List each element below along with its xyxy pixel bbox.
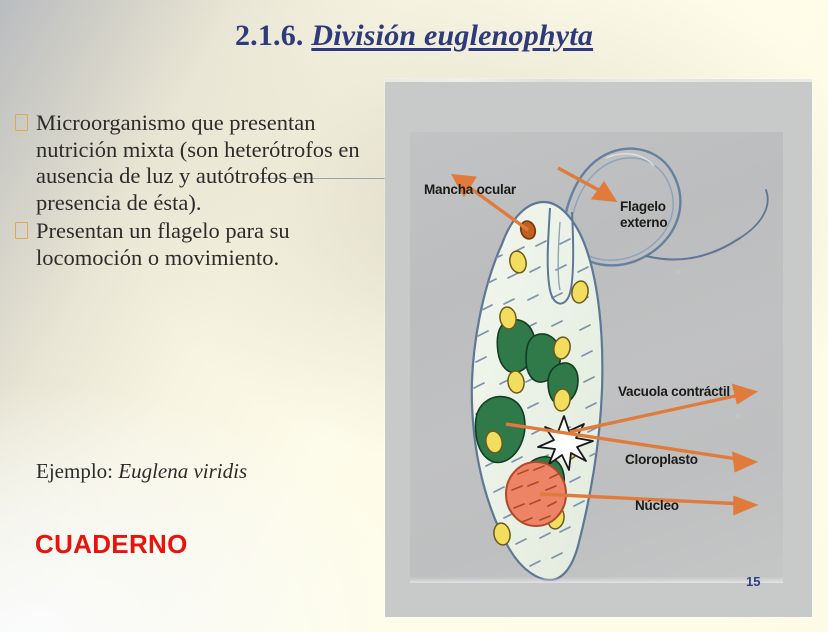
list-item: Presentan un flagelo para su locomoción …: [6, 218, 374, 271]
title-emphasis: División euglenophyta: [311, 19, 593, 52]
page-number: 15: [746, 574, 760, 589]
example-line: Ejemplo: Euglena viridis: [36, 459, 247, 484]
bullet-list: Microorganismo que presentan nutrición m…: [6, 110, 374, 273]
figure-label-vacuola-contractil: Vacuola contráctil: [618, 384, 730, 399]
photo-bottom-fade: [410, 577, 783, 583]
figure-label-mancha-ocular: Mancha ocular: [424, 182, 516, 197]
figure-label-nucleo: Núcleo: [635, 498, 679, 513]
example-species-name: Euglena viridis: [118, 459, 247, 483]
figure-label-flagelo-line2: externo: [620, 215, 667, 230]
figure-label-flagelo-externo: Flagelo externo: [620, 199, 730, 230]
title-number: 2.1.6.: [235, 19, 304, 52]
list-item-text: Microorganismo que presentan nutrición m…: [36, 110, 374, 216]
list-item: Microorganismo que presentan nutrición m…: [6, 110, 374, 216]
note-cuaderno: CUADERNO: [35, 529, 188, 560]
list-item-text: Presentan un flagelo para su locomoción …: [36, 218, 374, 271]
example-prefix: Ejemplo:: [36, 459, 118, 483]
euglena-diagram-image: Mancha ocular Flagelo externo Vacuola co…: [410, 132, 783, 583]
figure-label-flagelo-line1: Flagelo: [620, 199, 666, 214]
figure-label-cloroplasto: Cloroplasto: [625, 452, 698, 467]
bullet-box-icon: [6, 110, 36, 137]
figure-panel: Mancha ocular Flagelo externo Vacuola co…: [385, 79, 812, 617]
slide-canvas: 2.1.6. División euglenophyta Microorgani…: [0, 0, 828, 632]
flagellum-highlight: [606, 154, 654, 166]
bullet-box-icon: [6, 218, 36, 245]
page-title: 2.1.6. División euglenophyta: [0, 19, 828, 53]
